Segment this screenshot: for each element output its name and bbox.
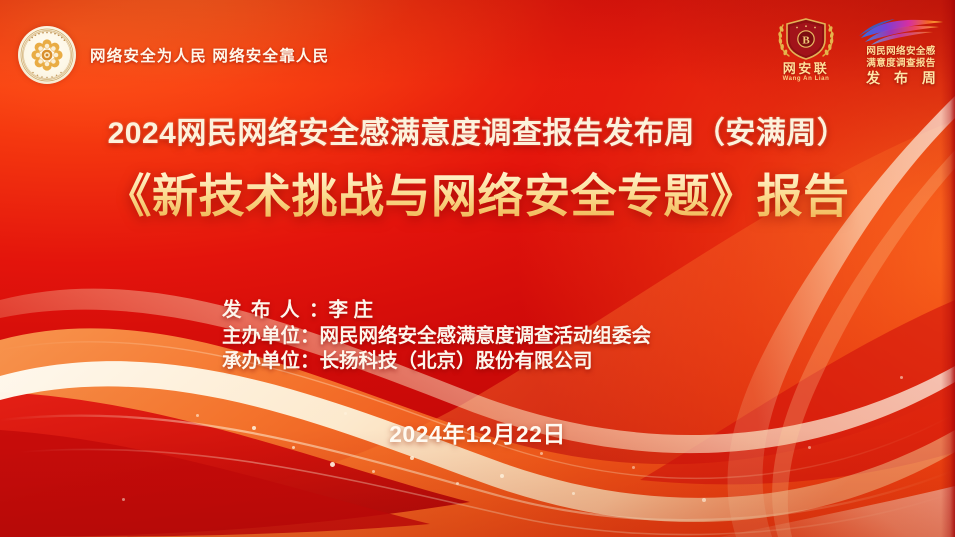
slogan-text: 网络安全为人民 网络安全靠人民 xyxy=(90,44,329,66)
wangan-name-en: Wang An Lian xyxy=(767,76,845,84)
credit-separator: ： xyxy=(309,299,329,321)
logo-release-week: 网民网络安全感 满意度调查报告 发 布 周 xyxy=(855,16,947,86)
credit-value: 长扬科技（北京）股份有限公司 xyxy=(320,350,593,372)
partner-logos: B 网安联 Wang An Lian xyxy=(767,16,947,86)
cac-emblem-block: 网络安全为人民 网络安全靠人民 xyxy=(18,26,329,84)
wangan-name-cn: 网安联 xyxy=(767,62,845,76)
credit-row: 主办单位：网民网络安全感满意度调查活动组委会 xyxy=(222,324,651,350)
poster-title-line-2: 《新技术挑战与网络安全专题》报告 xyxy=(0,160,955,226)
credit-value: 李 庄 xyxy=(329,299,373,321)
credit-label: 发布人 xyxy=(222,299,309,321)
svg-text:B: B xyxy=(802,35,810,47)
logo-wangan-lian: B 网安联 Wang An Lian xyxy=(767,16,845,83)
week-line-1: 网民网络安全感 xyxy=(855,46,947,58)
credit-label: 主办单位 xyxy=(222,325,300,347)
swoosh-icon xyxy=(855,16,947,46)
week-line-2: 满意度调查报告 xyxy=(855,58,947,70)
wangan-shield-icon: B xyxy=(767,16,845,62)
credit-separator: ： xyxy=(300,325,320,347)
poster-header: 网络安全为人民 网络安全靠人民 xyxy=(0,0,955,96)
credit-row: 发布人：李 庄 xyxy=(222,298,651,324)
credit-value: 网民网络安全感满意度调查活动组委会 xyxy=(320,325,652,347)
credit-row: 承办单位：长扬科技（北京）股份有限公司 xyxy=(222,349,651,375)
poster-slide: 网络安全为人民 网络安全靠人民 xyxy=(0,0,955,537)
week-line-3: 发 布 周 xyxy=(855,71,947,86)
poster-title-line-1: 2024网民网络安全感满意度调查报告发布周（安满周） xyxy=(0,108,955,152)
credits-block: 发布人：李 庄主办单位：网民网络安全感满意度调查活动组委会承办单位：长扬科技（北… xyxy=(222,298,651,375)
cac-seal-icon xyxy=(18,26,76,84)
credit-separator: ： xyxy=(300,350,320,372)
event-date: 2024年12月22日 xyxy=(0,415,955,449)
credit-label: 承办单位 xyxy=(222,350,300,372)
